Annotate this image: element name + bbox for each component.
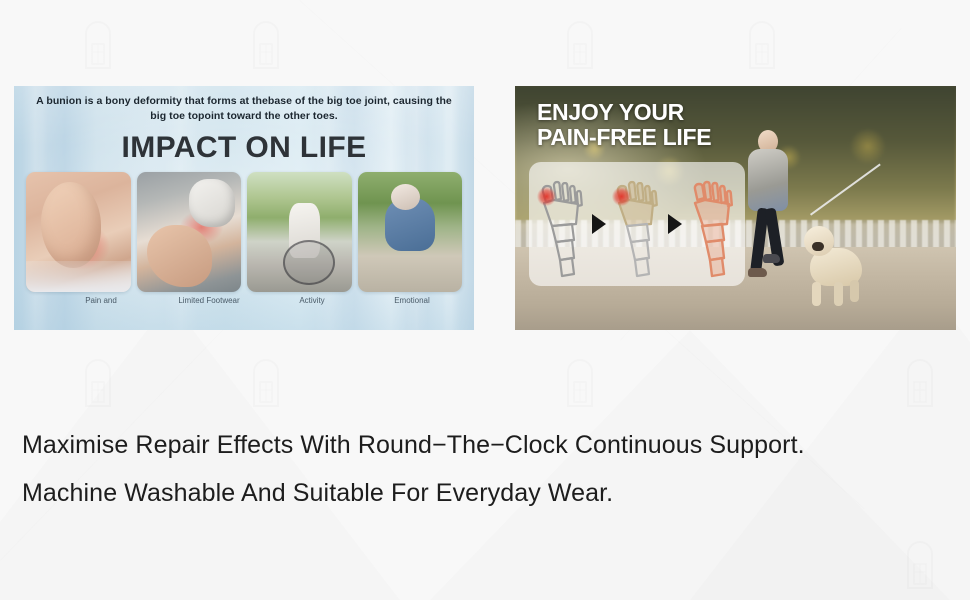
pain-free-life-photo: ENJOY YOUR PAIN-FREE LIFE [515, 86, 956, 330]
elderly-man-holding-foot-photo [358, 172, 463, 292]
pain-marker-icon [537, 187, 556, 206]
copy-line-2: Machine Washable And Suitable For Everyd… [22, 470, 952, 518]
runner-shoe [748, 268, 767, 277]
woman-in-wheelchair-photo [247, 172, 352, 292]
bunion-foot-xray-improving [610, 170, 664, 278]
infographic-photo-grid [26, 172, 462, 292]
copy-line-1: Maximise Repair Effects With Round−The−C… [22, 422, 952, 470]
infographic-subtitle: A bunion is a bony deformity that forms … [32, 94, 456, 124]
infographic-headline: IMPACT ON LIFE [14, 131, 474, 165]
foot-pain-closeup-photo [26, 172, 131, 292]
couple-running-with-dog-photo [738, 86, 956, 330]
dog-leash [810, 163, 881, 215]
progression-arrow-icon [668, 214, 682, 234]
pain-marker-icon [612, 187, 631, 206]
dog-leg [850, 280, 859, 302]
photo-caption-emotional: Emotional [362, 296, 462, 305]
foot-with-shoes-photo [137, 172, 242, 292]
photo-cell-emotional [358, 172, 463, 292]
photo-cell-pain [26, 172, 131, 292]
impact-on-life-infographic: A bunion is a bony deformity that forms … [14, 86, 474, 330]
dog-head [804, 226, 834, 256]
photo-caption-activity: Activity [262, 296, 362, 305]
dog-muzzle [812, 242, 824, 251]
bunion-foot-xray-corrected [685, 170, 739, 278]
images-row: A bunion is a bony deformity that forms … [0, 0, 970, 340]
progression-arrow-icon [592, 214, 606, 234]
bunion-foot-xray-painful [535, 170, 589, 278]
photo-cell-footwear [137, 172, 242, 292]
photo-caption-footwear: Limited Footwear [154, 296, 264, 305]
dog-leg [834, 282, 843, 306]
marketing-copy: Maximise Repair Effects With Round−The−C… [22, 422, 952, 517]
runner-jacket [748, 149, 788, 211]
golden-retriever-dog [800, 224, 868, 306]
photo-cell-activity [247, 172, 352, 292]
bunion-correction-progression-diagram [529, 162, 745, 286]
runner-shoe [763, 254, 780, 263]
photo-headline: ENJOY YOUR PAIN-FREE LIFE [537, 100, 711, 149]
dog-leg [812, 282, 821, 306]
photo-caption-pain: Pain and [56, 296, 146, 305]
